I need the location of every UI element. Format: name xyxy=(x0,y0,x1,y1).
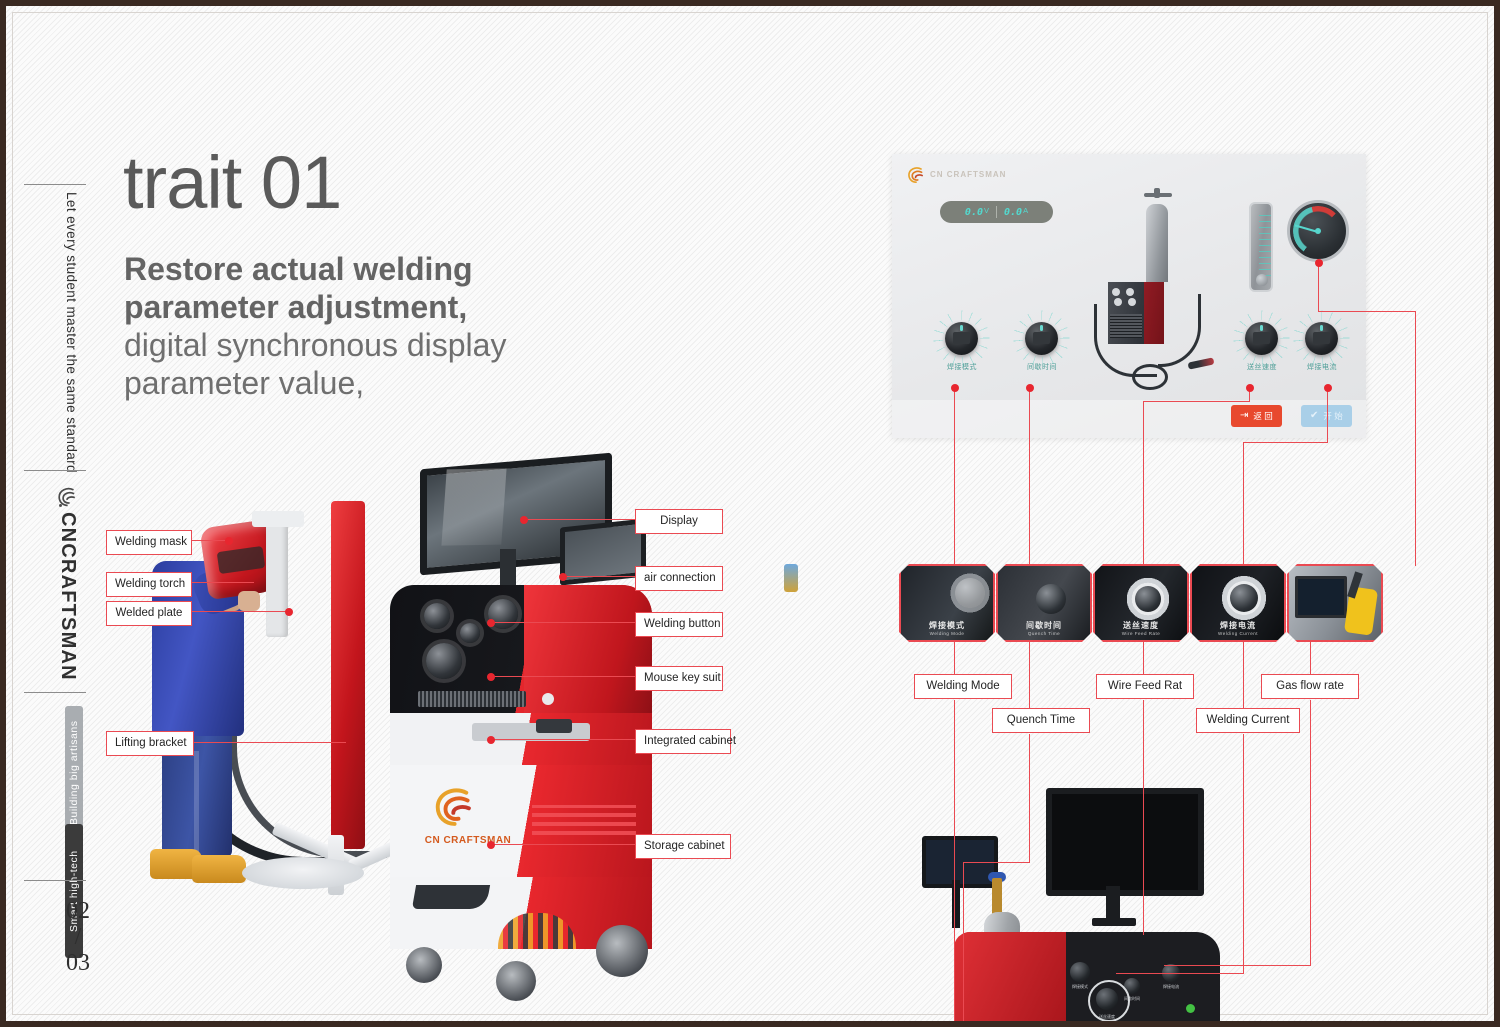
thumb-dial xyxy=(947,570,993,616)
flowmeter-scale xyxy=(1259,210,1271,276)
current-value: 0.0 xyxy=(1004,207,1022,218)
leader-dot-mouse-key-suit xyxy=(487,673,495,681)
voltage-unit: V xyxy=(984,206,989,215)
welded-plate-top xyxy=(252,511,304,527)
cable-coil xyxy=(1132,364,1168,390)
callout-wire-feed-rate: Wire Feed Rat xyxy=(1096,674,1194,699)
leader-welding-current-h xyxy=(1243,442,1328,443)
subtitle-line-2: parameter adjustment, xyxy=(124,288,594,326)
knob-face xyxy=(1313,332,1330,344)
leader-wire-feed-down xyxy=(1143,642,1144,676)
leader-wire-feed-v2 xyxy=(1143,401,1144,566)
main-monitor-base xyxy=(1092,918,1136,926)
leader-integrated-cabinet xyxy=(491,739,635,740)
leader-welding-current-v1 xyxy=(1327,390,1328,443)
leader-mouse-key-suit xyxy=(491,676,635,677)
monitor-glare xyxy=(441,468,506,545)
thumb-caption-cn: 焊接电流 xyxy=(1220,621,1256,630)
thumb-knob xyxy=(1135,586,1161,612)
callout-quench-time: Quench Time xyxy=(992,708,1090,733)
student-leg-seam xyxy=(194,751,199,855)
software-panel-footer xyxy=(892,400,1366,438)
knob-welding-current-label: 焊接电流 xyxy=(1287,362,1357,372)
leader-quench-time-down xyxy=(1029,642,1030,710)
voltage-readout: 0.0 V xyxy=(958,207,996,218)
thumb-caption: 间歇时间 Quench Time xyxy=(998,620,1090,636)
leader-welding-current-v2 xyxy=(1243,442,1244,566)
leader-quench-time-tail-h xyxy=(963,862,1030,863)
brochure-page: Let every student master the same standa… xyxy=(0,0,1500,1027)
leader-dot-storage-cabinet xyxy=(487,841,495,849)
leader-dot-welding-current xyxy=(1324,384,1332,392)
panel-label-plate xyxy=(418,691,526,707)
knob-wire-feed-rate[interactable] xyxy=(1245,322,1278,355)
leader-dot-display xyxy=(520,516,528,524)
thumb-caption: 焊接模式 Welding Mode xyxy=(901,620,993,636)
closeup-knob-wire-feed-rate xyxy=(1096,988,1118,1010)
page-number-current: 02 xyxy=(56,898,100,924)
leader-gas-flow-v2 xyxy=(1415,311,1416,566)
student-hand xyxy=(238,591,260,611)
cn-craftsman-logo-icon xyxy=(54,484,80,510)
subtitle-line-4: parameter value, xyxy=(124,364,594,402)
welded-plate-object xyxy=(266,519,288,637)
leader-welding-mode-tail xyxy=(954,700,955,1027)
bracket-floor-plate xyxy=(242,857,364,889)
knob-welding-current[interactable] xyxy=(1305,322,1338,355)
thumb-caption-cn: 焊接模式 xyxy=(929,621,965,630)
callout-air-connection: air connection xyxy=(635,566,723,591)
callout-gas-flow-rate: Gas flow rate xyxy=(1261,674,1359,699)
callout-mouse-key-suit: Mouse key suit xyxy=(635,666,723,691)
sidebar-brand-block: CNCRAFTSMAN xyxy=(46,484,92,704)
thumb-caption-en: Wire Feed Rate xyxy=(1095,631,1187,636)
gas-flowmeter[interactable] xyxy=(1249,202,1273,292)
cabinet-vents xyxy=(532,805,636,835)
power-indicator-led xyxy=(1186,1004,1195,1013)
welder-side-panel xyxy=(1164,282,1170,344)
flowmeter-float xyxy=(1256,274,1268,286)
panel-knob-1 xyxy=(424,603,450,629)
thumb-operator[interactable] xyxy=(1287,564,1383,642)
thumb-welding-mode[interactable]: 焊接模式 Welding Mode xyxy=(899,564,995,642)
leader-display xyxy=(524,519,635,520)
leader-storage-cabinet xyxy=(491,844,635,845)
leader-quench-time-v xyxy=(1029,390,1030,566)
machine-logo-icon xyxy=(426,781,478,833)
thumb-monitor xyxy=(1295,576,1347,618)
panel-knob-2 xyxy=(460,623,480,643)
sidebar-tagline: Let every student master the same standa… xyxy=(64,192,79,473)
callout-welded-plate: Welded plate xyxy=(106,601,192,626)
main-monitor-stand xyxy=(1106,886,1120,922)
callout-lifting-bracket: Lifting bracket xyxy=(106,731,194,756)
leader-wire-feed-h xyxy=(1143,401,1250,402)
knob-face xyxy=(953,332,970,344)
panel-indicator-light xyxy=(542,693,554,705)
air-connection-valve xyxy=(784,564,798,592)
back-button[interactable]: ⇥ 返 回 xyxy=(1231,405,1282,427)
leader-gas-flow-down xyxy=(1310,642,1311,676)
panel-knob-4 xyxy=(426,643,462,679)
page-number-total: 03 xyxy=(56,950,100,976)
leader-quench-time-tail-v2 xyxy=(963,862,964,1027)
left-sidebar: Let every student master the same standa… xyxy=(20,14,92,1017)
welding-torch-head xyxy=(1188,357,1215,369)
welder-illustration xyxy=(1088,184,1218,394)
leader-gas-flow-v1 xyxy=(1318,265,1319,312)
machine-cabinet-red-shell xyxy=(954,932,1066,1024)
knob-welding-mode-label: 焊接模式 xyxy=(927,362,997,372)
welder-grill xyxy=(1110,314,1142,338)
callout-storage-cabinet: Storage cabinet xyxy=(635,834,731,859)
caster-wheel-1 xyxy=(406,947,442,983)
leader-welding-current-tail-h xyxy=(1116,973,1244,974)
thumb-caption: 焊接电流 Welding Current xyxy=(1192,620,1284,636)
leader-dot-welding-button xyxy=(487,619,495,627)
closeup-label-welding-current: 焊接电流 xyxy=(1151,984,1191,990)
pressure-gauge[interactable] xyxy=(1287,200,1349,262)
leader-dot-welding-mode xyxy=(951,384,959,392)
leader-dot-air-connection xyxy=(559,573,567,581)
gas-cylinder-valve xyxy=(992,878,1002,916)
knob-face xyxy=(1033,332,1050,344)
leader-lifting-bracket xyxy=(194,742,346,743)
sidebar-divider-1 xyxy=(24,184,86,185)
sidebar-divider-3 xyxy=(24,692,86,693)
thumb-wire-feed-rate[interactable]: 送丝速度 Wire Feed Rate xyxy=(1093,564,1189,642)
leader-welded-plate xyxy=(192,611,290,612)
page-number: 02 / 03 xyxy=(56,898,100,976)
knob-face xyxy=(1253,332,1270,344)
leader-dot-welding-mask xyxy=(225,537,233,545)
leader-welding-torch xyxy=(192,582,254,583)
thumb-caption: 送丝速度 Wire Feed Rate xyxy=(1095,620,1187,636)
leader-dot-wire-feed xyxy=(1246,384,1254,392)
callout-integrated-cabinet: Integrated cabinet xyxy=(635,729,731,754)
gauge-hub xyxy=(1315,228,1321,234)
page-title: trait 01 xyxy=(123,144,341,222)
back-button-label: 返 回 xyxy=(1253,410,1272,422)
sidebar-brand-text: CNCRAFTSMAN xyxy=(56,512,79,681)
sidebar-divider-4 xyxy=(24,880,86,881)
leader-quench-time-tail-v xyxy=(1029,734,1030,863)
caster-wheel-2 xyxy=(496,961,536,1001)
subtitle-line-1: Restore actual welding xyxy=(124,250,594,288)
closeup-label-wire-feed-rate: 送丝速度 xyxy=(1087,1014,1127,1020)
callout-welding-current: Welding Current xyxy=(1196,708,1300,733)
knob-quench-time[interactable] xyxy=(1025,322,1058,355)
sidebar-chip-building-big-artisans: Building big artisans xyxy=(65,706,83,840)
callout-display: Display xyxy=(635,509,723,534)
callout-welding-torch: Welding torch xyxy=(106,572,192,597)
welding-trainer-machine: CN CRAFTSMAN xyxy=(384,461,654,961)
knob-indicator xyxy=(1320,325,1323,331)
knob-indicator xyxy=(960,325,963,331)
leader-gas-flow-tail-h xyxy=(1164,965,1311,966)
digital-readout: 0.0 V 0.0 A xyxy=(940,201,1053,223)
knob-indicator xyxy=(1040,325,1043,331)
leader-welding-current-down xyxy=(1243,642,1244,710)
leader-dot-gas-flow xyxy=(1315,259,1323,267)
exit-icon: ⇥ xyxy=(1240,411,1248,421)
leader-welding-button xyxy=(491,622,635,623)
subtitle-line-3: digital synchronous display xyxy=(124,326,594,364)
thumb-knob xyxy=(1230,584,1258,612)
callout-welding-mode: Welding Mode xyxy=(914,674,1012,699)
thumb-caption-cn: 间歇时间 xyxy=(1026,621,1062,630)
thumb-welding-current[interactable]: 焊接电流 Welding Current xyxy=(1190,564,1286,642)
leader-welding-mode-down xyxy=(954,642,955,676)
mouse-key-suit-device xyxy=(536,719,572,733)
voltage-value: 0.0 xyxy=(965,207,983,218)
callout-welding-mask: Welding mask xyxy=(106,530,192,555)
sidebar-divider-2 xyxy=(24,470,86,471)
leader-gas-flow-tail xyxy=(1310,700,1311,966)
check-icon: ✔ xyxy=(1310,411,1318,421)
machine-closeup-photo: 焊接模式 间歇时间 送丝速度 焊接电流 xyxy=(906,776,1326,1026)
thumb-caption-cn: 送丝速度 xyxy=(1123,621,1159,630)
cn-craftsman-logo-icon xyxy=(904,164,926,186)
leader-gas-flow-h xyxy=(1318,311,1416,312)
current-unit: A xyxy=(1023,206,1028,215)
thumb-caption-en: Welding Current xyxy=(1192,631,1284,636)
leader-welding-current-tail xyxy=(1243,734,1244,974)
knob-indicator xyxy=(1260,325,1263,331)
lifting-bracket-post xyxy=(331,501,365,849)
thumb-caption-en: Quench Time xyxy=(998,631,1090,636)
knob-quench-time-label: 间歇时间 xyxy=(1007,362,1077,372)
page-number-separator: / xyxy=(56,924,100,950)
leader-dot-welded-plate xyxy=(285,608,293,616)
thumb-quench-time[interactable]: 间歇时间 Quench Time xyxy=(996,564,1092,642)
main-monitor xyxy=(1046,788,1204,896)
current-readout: 0.0 A xyxy=(997,207,1035,218)
closeup-knob-welding-mode xyxy=(1070,962,1090,982)
thumb-caption-en: Welding Mode xyxy=(901,631,993,636)
leader-dot-quench-time xyxy=(1026,384,1034,392)
student-boot-right xyxy=(192,855,246,883)
leader-wire-feed-tail xyxy=(1143,700,1144,935)
leader-dot-integrated-cabinet xyxy=(487,736,495,744)
knob-welding-mode[interactable] xyxy=(945,322,978,355)
software-logo-text: CN CRAFTSMAN xyxy=(930,170,1006,179)
storage-drawer-handle xyxy=(412,885,490,909)
leader-welding-mode-v xyxy=(954,390,955,566)
welder-front-knobs xyxy=(1112,288,1144,306)
leader-air-connection xyxy=(563,576,635,577)
trainer-photo: CN CRAFTSMAN xyxy=(126,461,666,971)
page-subtitle: Restore actual welding parameter adjustm… xyxy=(124,250,594,402)
simulator-software-panel[interactable]: CN CRAFTSMAN 0.0 V 0.0 A 焊接模式 间歇时间 xyxy=(892,154,1366,438)
callout-welding-button: Welding button xyxy=(635,612,723,637)
caster-wheel-3 xyxy=(596,925,648,977)
thumb-knob xyxy=(1036,584,1066,614)
